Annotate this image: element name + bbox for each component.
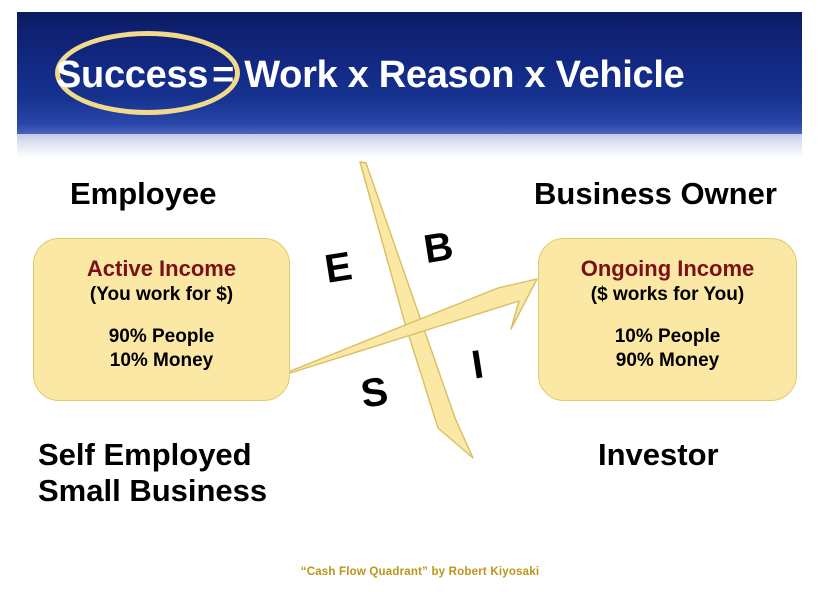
ongoing-income-stats: 10% People 90% Money bbox=[539, 325, 796, 373]
page-title: Success= Work x Reason x Vehicle bbox=[56, 44, 796, 106]
ongoing-income-title: Ongoing Income bbox=[539, 255, 796, 282]
active-income-stats: 90% People 10% Money bbox=[34, 325, 289, 373]
active-income-box: Active Income (You work for $) 90% Peopl… bbox=[33, 238, 290, 401]
active-income-money-stat: 10% Money bbox=[34, 349, 289, 373]
ongoing-income-subtitle: ($ works for You) bbox=[539, 282, 796, 307]
active-income-people-stat: 90% People bbox=[34, 325, 289, 349]
ongoing-income-people-stat: 10% People bbox=[539, 325, 796, 349]
header-highlighted-word: Success bbox=[56, 54, 212, 96]
ongoing-income-money-stat: 90% Money bbox=[539, 349, 796, 373]
quadrant-letter-b: B bbox=[421, 226, 456, 270]
active-income-title: Active Income bbox=[34, 255, 289, 282]
header-formula-text: = Work x Reason x Vehicle bbox=[212, 54, 684, 96]
ongoing-income-box: Ongoing Income ($ works for You) 10% Peo… bbox=[538, 238, 797, 401]
active-income-subtitle: (You work for $) bbox=[34, 282, 289, 307]
slide-canvas: Success= Work x Reason x Vehicle Employe… bbox=[0, 0, 840, 592]
